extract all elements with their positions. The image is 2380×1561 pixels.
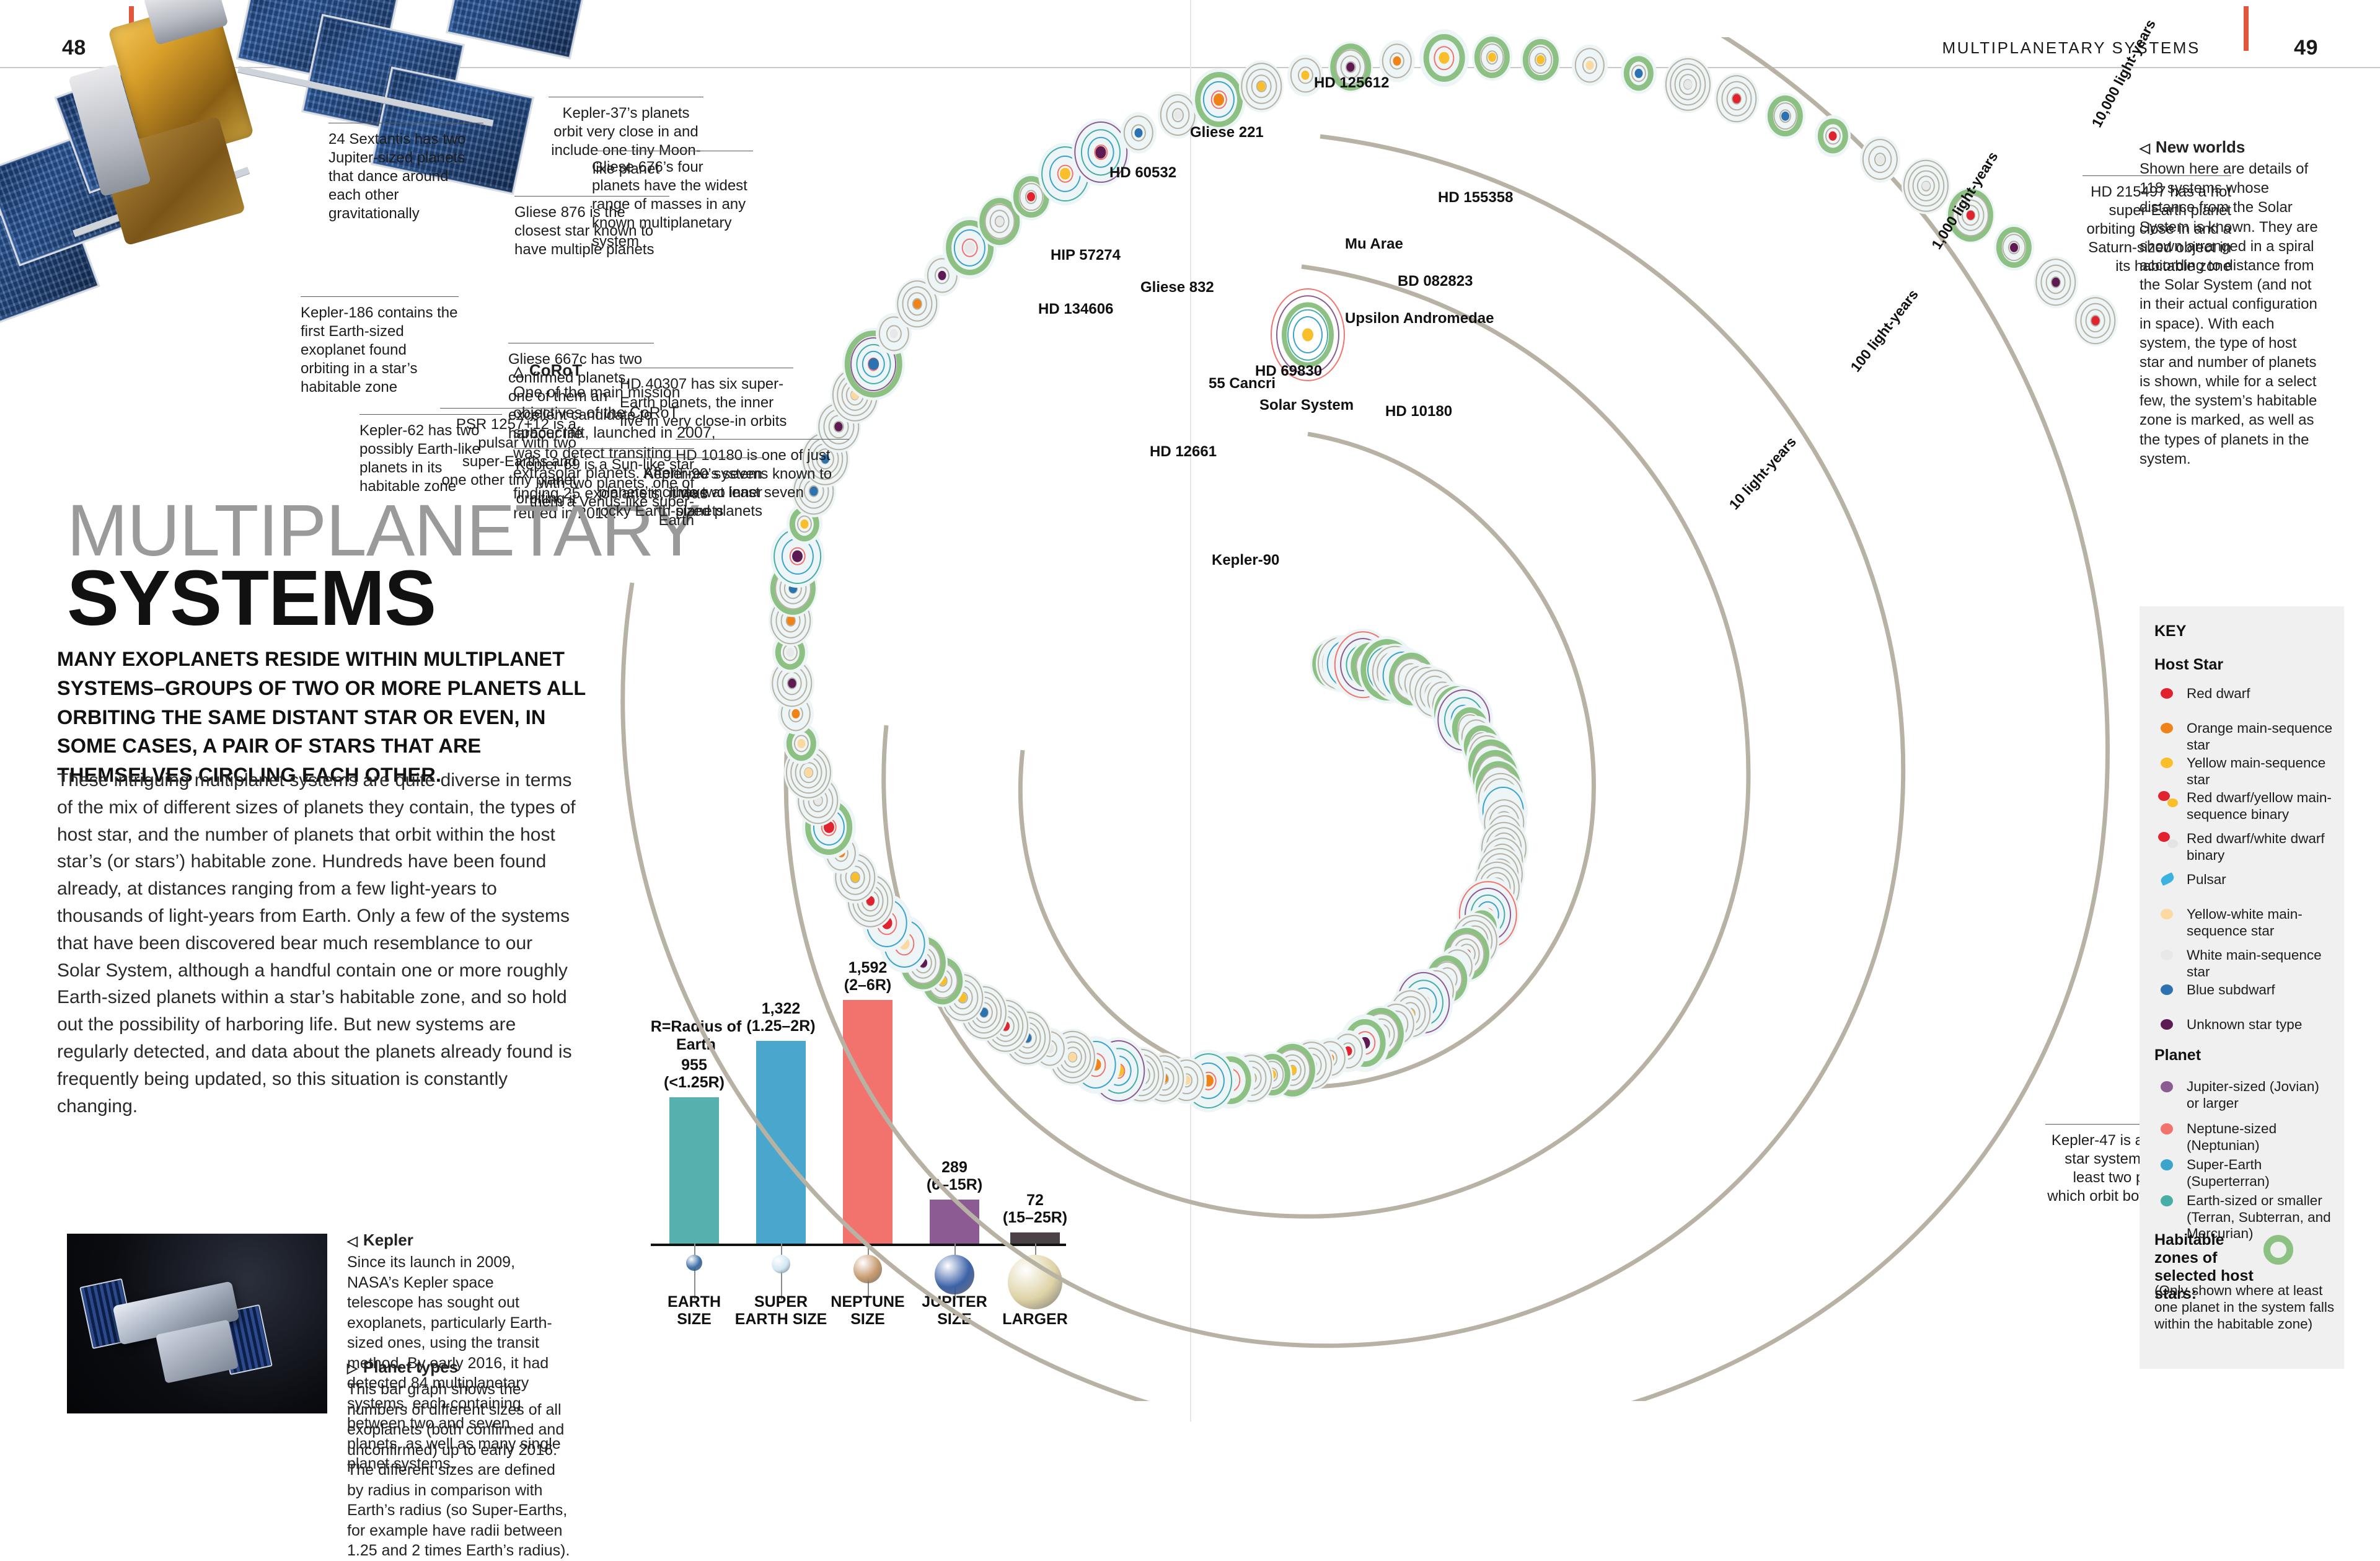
host-star-dot — [1096, 146, 1106, 159]
caption-planet-types-title: Planet types — [363, 1358, 458, 1376]
system-name-0: HD 125612 — [1314, 74, 1389, 92]
host-star-dot — [1347, 63, 1355, 72]
solar-system-label: Solar System — [1259, 397, 1354, 414]
host-star-dot — [1174, 110, 1182, 120]
system-name-7: Gliese 832 — [1140, 279, 1214, 296]
host-star-dot — [788, 679, 796, 688]
host-star-dot — [1634, 69, 1642, 78]
host-star-dot — [1134, 128, 1142, 138]
exoplanet-spiral-diagram: 10,000 light-years1,000 light-years100 l… — [583, 37, 2169, 1401]
host-star-dot — [964, 242, 975, 254]
host-star-dot — [2010, 243, 2018, 252]
system-name-13: HD 12661 — [1150, 443, 1217, 461]
system-name-4: Mu Arae — [1345, 236, 1403, 253]
callout-leader-kepler186 — [301, 296, 459, 297]
key-planet-row-1: Neptune-sized (Neptunian) — [2154, 1121, 2335, 1154]
host-star-dot — [792, 551, 803, 563]
host-star-dot — [1258, 82, 1266, 91]
system-glyph — [1121, 112, 1157, 153]
sun-dot — [1302, 329, 1313, 342]
key-host-row-9: Unknown star type — [2154, 1017, 2335, 1034]
host-star-dot — [1781, 111, 1789, 120]
host-star-dot — [1393, 56, 1401, 66]
key-swatch-binary — [2154, 831, 2187, 848]
host-star-dot — [1060, 168, 1070, 180]
key-host-label-8: Blue subdwarf — [2187, 982, 2275, 999]
key-host-label-0: Red dwarf — [2187, 686, 2250, 702]
kepler-telescope-photo — [67, 1234, 327, 1413]
system-glyph — [1860, 136, 1900, 183]
key-host-label-4: Red dwarf/white dwarf binary — [2187, 831, 2335, 864]
key-host-star-heading: Host Star — [2154, 656, 2223, 674]
callout-leader-kepler90 — [595, 458, 762, 458]
host-star-dot — [851, 873, 859, 882]
caption-planet-types-text: This bar graph shows the numbers of diff… — [347, 1379, 570, 1561]
key-host-label-1: Orange main-sequence star — [2187, 720, 2335, 753]
caption-new-worlds: ◁New worlds Shown here are details of 11… — [2140, 138, 2325, 469]
host-star-dot — [786, 648, 794, 657]
key-swatch-single — [2154, 906, 2187, 924]
key-swatch-single — [2154, 1017, 2187, 1034]
key-host-row-3: Red dwarf/yellow main-sequence binary — [2154, 790, 2335, 823]
key-host-label-7: White main-sequence star — [2187, 947, 2335, 980]
key-swatch-single — [2154, 982, 2187, 999]
system-name-6: HIP 57274 — [1051, 247, 1121, 264]
habitable-zone-ring-icon — [2263, 1235, 2293, 1265]
host-star-dot — [1876, 155, 1884, 164]
system-glyph — [2034, 257, 2078, 309]
system-glyph — [1239, 60, 1284, 112]
host-star-dot — [2091, 316, 2099, 325]
system-glyph — [1714, 73, 1759, 125]
callout-kepler90: Kepler-90’s seven planets include two in… — [595, 465, 762, 521]
key-habitable-note: (Only shown where at least one planet in… — [2154, 1282, 2335, 1332]
key-legend: KEY Host Star Red dwarfOrange main-seque… — [2140, 606, 2344, 1369]
callout-gliese876: Gliese 876 is the closest star known to … — [514, 203, 669, 259]
host-star-dot — [995, 217, 1003, 226]
triangle-left-icon-2: ◁ — [2140, 140, 2150, 156]
callout-sextantis: 24 Sextantis has two Jupiter-sized plane… — [328, 130, 483, 223]
host-star-dot — [804, 767, 813, 777]
system-name-1: Gliese 221 — [1190, 124, 1264, 141]
host-star-dot — [1922, 181, 1930, 190]
caption-new-worlds-text: Shown here are details of 118 systems wh… — [2140, 159, 2325, 469]
system-glyph — [1902, 157, 1950, 214]
system-name-9: Upsilon Andromedae — [1345, 310, 1494, 327]
key-swatch-pulsar — [2154, 872, 2187, 889]
host-star-dot — [1027, 192, 1035, 201]
host-star-dot — [1439, 52, 1450, 64]
system-glyph — [2073, 294, 2118, 347]
key-planet-swatch-0 — [2154, 1079, 2187, 1096]
host-star-dot — [1214, 94, 1224, 106]
callout-kepler186: Kepler-186 contains the first Earth-size… — [301, 304, 459, 397]
host-star-dot — [2052, 278, 2060, 287]
callout-leader-kepler62 — [359, 414, 502, 415]
callout-leader-gliese676 — [592, 151, 753, 151]
key-host-label-2: Yellow main-sequence star — [2187, 755, 2335, 788]
body-copy: These intriguing multiplanet systems are… — [57, 767, 578, 1120]
system-name-3: HD 155358 — [1438, 189, 1513, 206]
callout-hd40307: HD 40307 has six super-Earth planets, th… — [620, 375, 793, 431]
system-glyph — [1572, 44, 1608, 86]
host-star-dot — [1732, 94, 1740, 104]
caption-planet-types: ▷Planet types This bar graph shows the n… — [347, 1358, 570, 1561]
key-swatch-binary — [2154, 790, 2187, 807]
callout-kepler62: Kepler-62 has two possibly Earth-like pl… — [359, 422, 502, 496]
spread-page: 48 49 MULTIPLANETARY SYSTEMS △CoRoT One … — [0, 0, 2380, 1422]
system-name-5: BD 082823 — [1398, 273, 1473, 290]
host-star-dot — [1585, 61, 1593, 70]
key-planet-swatch-2 — [2154, 1157, 2187, 1174]
key-swatch-single — [2154, 686, 2187, 703]
key-host-row-6: Yellow-white main-sequence star — [2154, 906, 2335, 939]
system-glyph — [1994, 224, 2034, 270]
callout-leader-hd10180 — [676, 439, 849, 440]
system-name-14: Kepler-90 — [1212, 552, 1279, 569]
host-star-dot — [1829, 131, 1837, 141]
key-title: KEY — [2154, 622, 2186, 640]
key-host-label-5: Pulsar — [2187, 872, 2226, 888]
host-star-dot — [1967, 211, 1975, 220]
callout-leader-kepler37 — [549, 97, 703, 97]
key-host-row-8: Blue subdwarf — [2154, 982, 2335, 999]
system-glyph — [1192, 68, 1246, 131]
system-glyph — [1621, 53, 1657, 94]
callout-leader-kepler69 — [514, 448, 694, 449]
key-planet-label-0: Jupiter-sized (Jovian) or larger — [2187, 1079, 2335, 1112]
system-glyph — [1664, 56, 1712, 113]
key-planet-swatch-3 — [2154, 1193, 2187, 1210]
host-star-dot — [1069, 1053, 1077, 1062]
key-host-label-9: Unknown star type — [2187, 1017, 2302, 1033]
key-host-row-5: Pulsar — [2154, 872, 2335, 889]
caption-kepler-title: Kepler — [363, 1231, 413, 1249]
key-planet-row-0: Jupiter-sized (Jovian) or larger — [2154, 1079, 2335, 1112]
host-star-dot — [1302, 71, 1310, 80]
host-star-dot — [787, 616, 795, 626]
key-host-row-7: White main-sequence star — [2154, 947, 2335, 980]
key-host-label-3: Red dwarf/yellow main-sequence binary — [2187, 790, 2335, 823]
host-star-dot — [1536, 55, 1545, 64]
folio-right: 49 — [2294, 36, 2318, 60]
host-star-dot — [1488, 53, 1496, 62]
key-host-label-6: Yellow-white main-sequence star — [2187, 906, 2335, 939]
callout-leader-sextantis — [328, 123, 483, 123]
host-star-dot — [890, 329, 898, 338]
key-host-row-1: Orange main-sequence star — [2154, 720, 2335, 753]
host-star-dot — [835, 422, 843, 431]
key-swatch-single — [2154, 720, 2187, 738]
key-planet-heading: Planet — [2154, 1046, 2201, 1064]
caption-new-worlds-title: New worlds — [2156, 138, 2245, 156]
system-name-12: HD 10180 — [1385, 403, 1452, 420]
page-title-line2: SYSTEMS — [67, 561, 436, 636]
triangle-left-icon: ◁ — [347, 1233, 358, 1249]
key-swatch-single — [2154, 755, 2187, 772]
system-name-2: HD 60532 — [1109, 164, 1176, 182]
host-star-dot — [868, 358, 879, 371]
host-star-dot — [1684, 80, 1692, 89]
key-planet-label-1: Neptune-sized (Neptunian) — [2187, 1121, 2335, 1154]
callout-leader-gliese667c — [508, 343, 654, 343]
callout-leader-hd40307 — [620, 368, 793, 368]
system-glyph — [1472, 34, 1512, 81]
triangle-right-icon: ▷ — [347, 1360, 358, 1376]
orange-rule-right — [2244, 6, 2249, 51]
key-host-row-4: Red dwarf/white dwarf binary — [2154, 831, 2335, 864]
system-name-11: HD 69830 — [1255, 363, 1322, 380]
host-star-dot — [913, 299, 921, 309]
system-name-8: HD 134606 — [1038, 301, 1113, 318]
host-star-dot — [791, 709, 800, 719]
key-planet-row-2: Super-Earth (Superterran) — [2154, 1157, 2335, 1190]
system-glyph — [1765, 92, 1805, 139]
key-swatch-single — [2154, 947, 2187, 965]
key-planet-swatch-1 — [2154, 1121, 2187, 1138]
system-glyph — [1419, 29, 1469, 87]
callout-leader-gliese876 — [514, 196, 669, 197]
key-host-row-2: Yellow main-sequence star — [2154, 755, 2335, 788]
system-glyph — [1815, 115, 1851, 157]
system-glyph — [1520, 37, 1561, 83]
key-planet-label-2: Super-Earth (Superterran) — [2187, 1157, 2335, 1190]
key-host-row-0: Red dwarf — [2154, 686, 2335, 703]
host-star-dot — [797, 739, 805, 748]
